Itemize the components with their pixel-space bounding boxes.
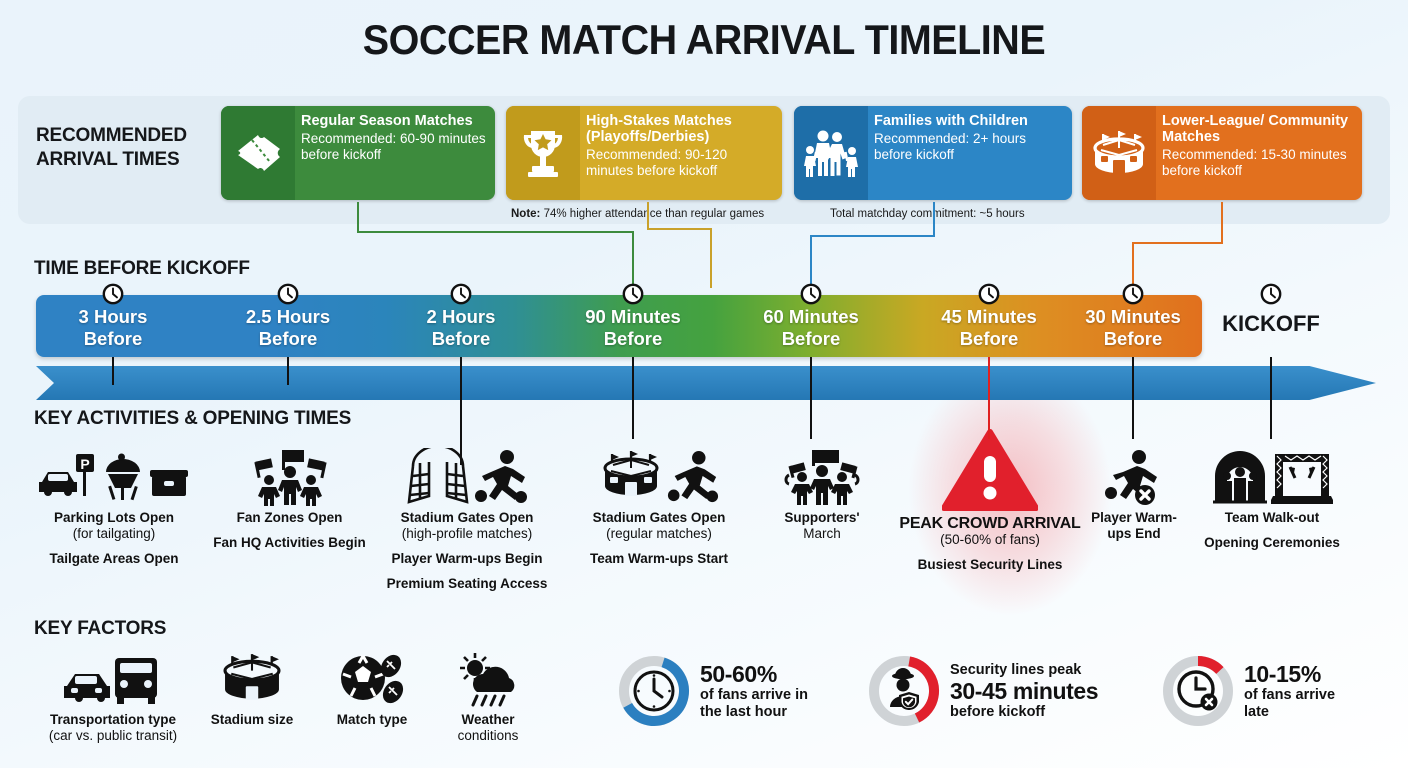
rec-card-sub: Recommended: 90-120 minutes before kicko… — [586, 147, 774, 179]
tunnel-walkout-icon — [1211, 448, 1269, 506]
activity-fan-zones: Fan Zones Open Fan HQ Activities Begin — [212, 440, 367, 551]
rec-card-title: Families with Children — [874, 113, 1064, 129]
activity-parking-lots: P Parking Lots Open (for tailgating) Tai… — [28, 440, 200, 567]
activity-line2: (high-profile matches) — [378, 526, 556, 542]
ceremony-stage-icon — [1271, 448, 1333, 506]
rec-card-regular-season[interactable]: Regular Season Matches Recommended: 60-9… — [221, 106, 495, 200]
ticket-icon — [221, 106, 295, 200]
timeline-tick — [112, 357, 114, 385]
donut-ring — [618, 655, 690, 727]
activity-line2: March — [748, 526, 896, 542]
note-commitment: Total matchday commitment: ~5 hours — [830, 208, 1025, 220]
fans-flags-icon — [244, 448, 336, 506]
activity-line4: Premium Seating Access — [378, 576, 556, 592]
activity-line2: (for tailgating) — [28, 526, 200, 542]
timeline-marker-line1: 2.5 Hours — [213, 306, 363, 328]
stat-pretext: Security lines peak — [950, 662, 1098, 679]
timeline-marker-line1: 3 Hours — [38, 306, 188, 328]
timeline-arrow — [36, 366, 1376, 400]
factor-transportation: Transportation type (car vs. public tran… — [22, 650, 204, 744]
activity-line1: Supporters' — [748, 510, 896, 526]
rec-card-title: High-Stakes Matches (Playoffs/Derbies) — [586, 113, 774, 145]
activity-line3: Fan HQ Activities Begin — [212, 535, 367, 551]
security-guard-icon — [890, 668, 919, 710]
car-parking-icon: P — [38, 450, 98, 506]
factor-line1: Weather — [434, 712, 542, 728]
timeline-marker-line2: Before — [553, 328, 713, 350]
svg-text:P: P — [80, 456, 89, 472]
timeline-marker-0[interactable]: 3 HoursBefore — [38, 306, 188, 350]
stat-sub1: of fans arrive — [1244, 687, 1335, 704]
timeline-tick — [632, 357, 634, 439]
activity-line1: Stadium Gates Open — [574, 510, 744, 526]
activity-line3: Tailgate Areas Open — [28, 551, 200, 567]
timeline-marker-line1: 90 Minutes — [553, 306, 713, 328]
activity-line1: Fan Zones Open — [212, 510, 367, 526]
activity-line3: Busiest Security Lines — [890, 557, 1090, 573]
donut-ring — [1162, 655, 1234, 727]
timeline-clock-icon — [277, 283, 299, 305]
activities-heading: KEY ACTIVITIES & OPENING TIMES — [34, 408, 351, 430]
rec-card-sub: Recommended: 15-30 minutes before kickof… — [1162, 147, 1354, 179]
timeline-marker-7[interactable]: KICKOFF — [1201, 313, 1341, 335]
rec-card-families[interactable]: Families with Children Recommended: 2+ h… — [794, 106, 1072, 200]
timeline-tick — [1132, 357, 1134, 439]
factor-icon-group — [22, 650, 204, 708]
timeline-marker-1[interactable]: 2.5 HoursBefore — [213, 306, 363, 350]
stadium-icon — [216, 652, 288, 708]
activity-icon-group — [378, 440, 556, 506]
rec-card-sub: Recommended: 60-90 minutes before kickof… — [301, 131, 487, 163]
timeline-marker-line2: Before — [1053, 328, 1213, 350]
timeline-tick — [810, 357, 812, 439]
factor-icon-group — [318, 650, 426, 708]
activity-icon-group — [748, 440, 896, 506]
factors-heading: KEY FACTORS — [34, 618, 166, 640]
supporters-march-icon — [783, 448, 861, 506]
activity-line3: Player Warm-ups Begin — [378, 551, 556, 567]
stat-value: 30-45 minutes — [950, 679, 1098, 704]
timeline-tick — [988, 357, 990, 439]
rec-card-sub: Recommended: 2+ hours before kickoff — [874, 131, 1064, 163]
note-bold-label: Note: — [511, 208, 540, 220]
trophy-icon — [506, 106, 580, 200]
timeline-clock-icon — [622, 283, 644, 305]
timeline-marker-line2: Before — [909, 328, 1069, 350]
clock-late-icon — [1179, 672, 1218, 711]
timeline-clock-icon — [978, 283, 1000, 305]
activity-line1: PEAK CROWD ARRIVAL — [890, 516, 1090, 532]
activity-line1: Stadium Gates Open — [378, 510, 556, 526]
timeline-marker-3[interactable]: 90 MinutesBefore — [553, 306, 713, 350]
factor-icon-group — [434, 650, 542, 708]
activity-line1: Player Warm-ups End — [1082, 510, 1186, 542]
activity-line1: Team Walk-out — [1198, 510, 1346, 526]
timeline-marker-line2: Before — [213, 328, 363, 350]
timeline-tick — [460, 357, 462, 465]
timeline-marker-line2: Before — [386, 328, 536, 350]
stadium-icon — [1082, 106, 1156, 200]
activity-icon-group — [574, 440, 744, 506]
timeline-clock-icon — [800, 283, 822, 305]
activity-icon-group — [1198, 440, 1346, 506]
stat-fans-last-hour: 50-60% of fans arrive in the last hour — [618, 655, 808, 727]
weather-icon — [455, 652, 521, 708]
activity-icon-group — [1082, 440, 1186, 506]
page-title: SOCCER MATCH ARRIVAL TIMELINE — [42, 16, 1366, 64]
timeline-marker-line1: 60 Minutes — [731, 306, 891, 328]
stat-fans-arrive-late: 10-15% of fans arrive late — [1162, 655, 1335, 727]
stat-value: 10-15% — [1244, 662, 1335, 687]
factor-line1: Match type — [318, 712, 426, 728]
timeline-marker-line1: 2 Hours — [386, 306, 536, 328]
timeline-tick — [1270, 357, 1272, 439]
timeline-marker-line1: 45 Minutes — [909, 306, 1069, 328]
stat-security-lines-peak: Security lines peak 30-45 minutes before… — [868, 655, 1098, 727]
rec-card-high-stakes[interactable]: High-Stakes Matches (Playoffs/Derbies) R… — [506, 106, 782, 200]
timeline-clock-icon — [1122, 283, 1144, 305]
factor-line1: Transportation type — [22, 712, 204, 728]
timeline-clock-icon — [450, 283, 472, 305]
timeline-marker-line1: KICKOFF — [1201, 313, 1341, 335]
stat-sub2: late — [1244, 704, 1335, 721]
activity-team-walkout: Team Walk-out Opening Ceremonies — [1198, 440, 1346, 551]
activity-peak-crowd-arrival: PEAK CROWD ARRIVAL (50-60% of fans) Busi… — [890, 440, 1090, 573]
timeline-marker-line2: Before — [731, 328, 891, 350]
stat-sub1: of fans arrive in — [700, 687, 808, 704]
stat-sub2: the last hour — [700, 704, 808, 721]
recommended-arrival-label: RECOMMENDED ARRIVAL TIMES — [36, 124, 216, 172]
stat-value: 50-60% — [700, 662, 808, 687]
activity-icon-group: P — [28, 440, 200, 506]
timeline-marker-2[interactable]: 2 HoursBefore — [386, 306, 536, 350]
activity-stadium-gates-high-profile: Stadium Gates Open (high-profile matches… — [378, 440, 556, 592]
activity-icon-group — [212, 440, 367, 506]
player-ball-icon — [473, 448, 529, 506]
note-text: 74% higher attendance than regular games — [540, 208, 764, 220]
activity-supporters-march: Supporters' March — [748, 440, 896, 542]
stat-sub1: before kickoff — [950, 704, 1098, 721]
family-icon — [794, 106, 868, 200]
activity-stadium-gates-regular: Stadium Gates Open (regular matches) Tea… — [574, 440, 744, 567]
activity-line3: Team Warm-ups Start — [574, 551, 744, 567]
timeline-marker-4[interactable]: 60 MinutesBefore — [731, 306, 891, 350]
activity-line3: Opening Ceremonies — [1198, 535, 1346, 551]
rec-card-lower-league[interactable]: Lower-League/ Community Matches Recommen… — [1082, 106, 1362, 200]
factor-line1: Stadium size — [196, 712, 308, 728]
factor-line2: (car vs. public transit) — [22, 728, 204, 744]
warning-triangle-icon — [942, 428, 1038, 512]
activity-player-warmups-end: Player Warm-ups End — [1082, 440, 1186, 542]
factor-weather: Weather conditions — [434, 650, 542, 744]
donut-ring — [868, 655, 940, 727]
activity-line1: Parking Lots Open — [28, 510, 200, 526]
note-attendance: Note: 74% higher attendance than regular… — [511, 208, 764, 220]
timeline-clock-icon — [102, 283, 124, 305]
activity-icon-group — [890, 440, 1090, 512]
activity-line2: (regular matches) — [574, 526, 744, 542]
timeline-clock-icon — [1260, 283, 1282, 305]
cooler-icon — [148, 450, 190, 506]
grill-icon — [100, 450, 146, 506]
car-bus-icon — [63, 652, 163, 708]
factor-icon-group — [196, 650, 308, 708]
rec-card-title: Lower-League/ Community Matches — [1162, 113, 1354, 145]
timeline-marker-line2: Before — [38, 328, 188, 350]
player-ball-stop-icon — [1104, 448, 1164, 506]
stadium-icon — [598, 448, 664, 506]
timeline-marker-5[interactable]: 45 MinutesBefore — [909, 306, 1069, 350]
soccer-balls-icon — [337, 652, 407, 708]
timeline-marker-line1: 30 Minutes — [1053, 306, 1213, 328]
timeline-tick — [287, 357, 289, 385]
factor-line2: conditions — [434, 728, 542, 744]
rec-card-title: Regular Season Matches — [301, 113, 487, 129]
player-ball-icon — [666, 448, 720, 506]
clock-icon — [635, 672, 673, 710]
activity-line2: (50-60% of fans) — [890, 532, 1090, 548]
timeline-heading: TIME BEFORE KICKOFF — [34, 258, 250, 280]
timeline-marker-6[interactable]: 30 MinutesBefore — [1053, 306, 1213, 350]
factor-stadium-size: Stadium size — [196, 650, 308, 728]
factor-match-type: Match type — [318, 650, 426, 728]
